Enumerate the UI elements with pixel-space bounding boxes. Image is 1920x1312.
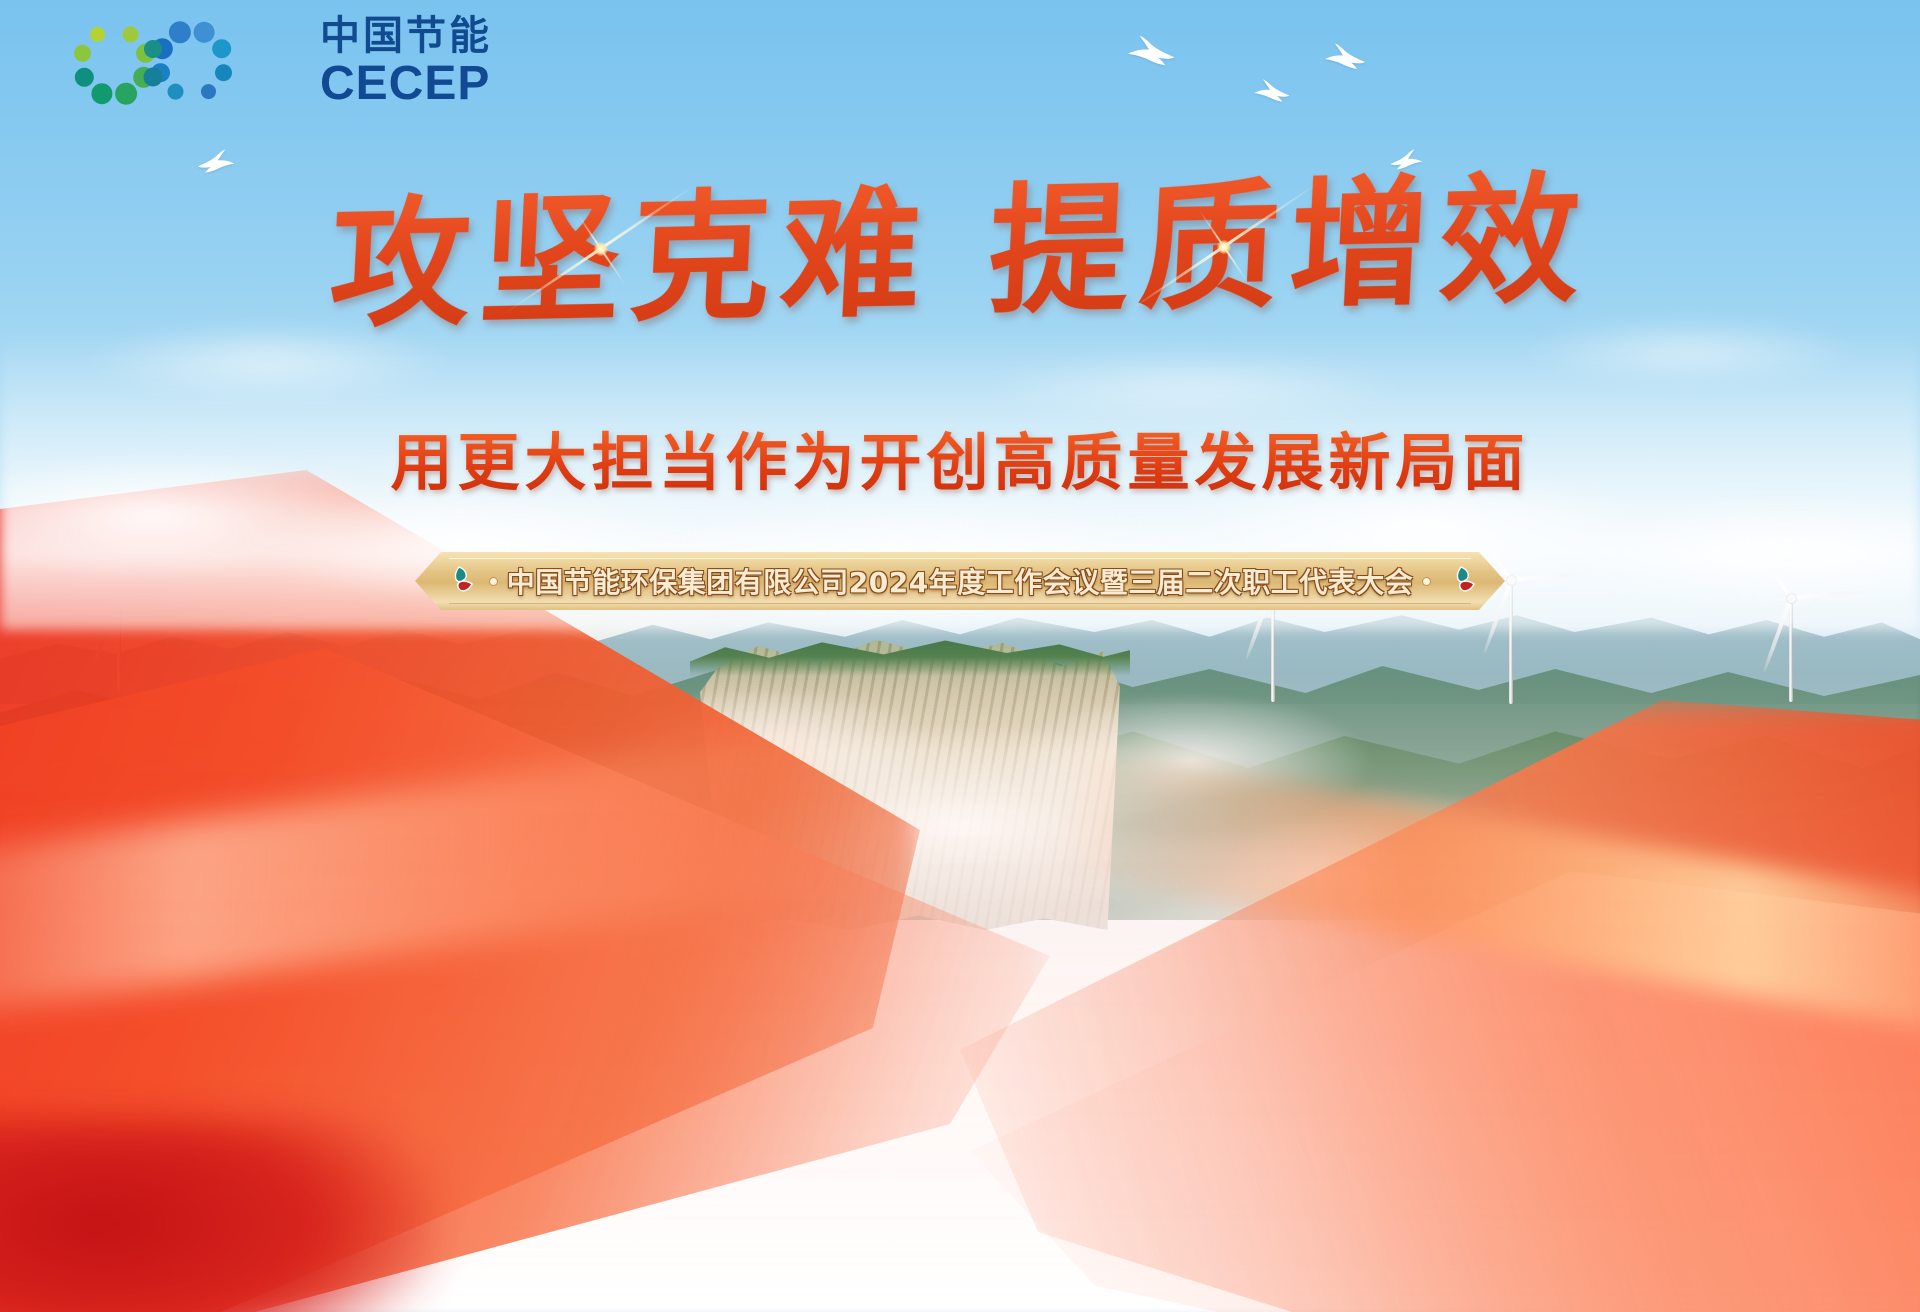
headline-part-2: 提质增效 <box>985 158 1594 335</box>
dove-3-icon <box>1248 78 1292 105</box>
brand-wordmark: 中国节能 CECEP <box>320 16 492 108</box>
banner-title: 中国节能环保集团有限公司2024年度工作会议暨三届二次职工代表大会 <box>507 561 1413 601</box>
cecep-dots-logo-icon <box>52 19 302 105</box>
warm-color-wash <box>0 552 1920 1312</box>
banner-bullet-right <box>1423 578 1430 585</box>
dove-1-icon <box>195 148 241 177</box>
leaf-emblem-icon <box>1444 564 1478 598</box>
brand-name-cn: 中国节能 <box>320 16 492 56</box>
event-banner: 中国节能环保集团有限公司2024年度工作会议暨三届二次职工代表大会 <box>415 552 1505 610</box>
headline-gap <box>929 300 987 301</box>
poster-canvas: 中国节能 CECEP 攻坚克难提质增效 用更大担当作为开创高质量发展新局面 中国… <box>0 0 1920 1312</box>
dove-2-icon <box>1120 34 1178 70</box>
leaf-emblem-icon <box>442 564 476 598</box>
page-subtitle: 用更大担当作为开创高质量发展新局面 <box>0 412 1920 502</box>
brand-logo[interactable]: 中国节能 CECEP <box>52 16 492 108</box>
headline-part-1: 攻坚克难 <box>326 172 935 349</box>
brand-name-en: CECEP <box>320 60 492 108</box>
dove-4-icon <box>1318 42 1368 73</box>
banner-bullet-left <box>490 578 497 585</box>
